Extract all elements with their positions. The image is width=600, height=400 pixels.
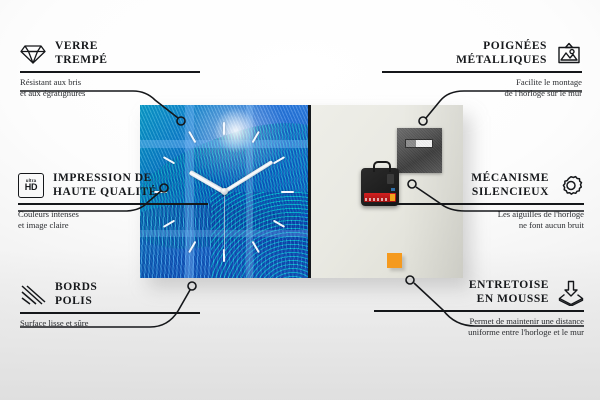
product-infographic: VERRETREMPÉ Résistant aux briset aux égr… — [0, 0, 600, 400]
orange-foam-spacer — [387, 253, 402, 268]
feature-title: VERRETREMPÉ — [55, 40, 108, 67]
arrow-into-pad-icon — [558, 280, 584, 306]
feature-title: MÉCANISMESILENCIEUX — [471, 172, 549, 199]
feature-divider — [20, 71, 200, 73]
feature-description: Les aiguilles de l'horlogene font aucun … — [384, 209, 584, 231]
feature-header: ENTRETOISEEN MOUSSE — [374, 279, 584, 306]
feature-header: POIGNÉESMÉTALLIQUES — [382, 40, 582, 67]
feature-divider — [382, 71, 582, 73]
clock-center-cap — [221, 188, 228, 195]
gear-icon — [558, 173, 584, 199]
feature-title: POIGNÉESMÉTALLIQUES — [456, 40, 547, 67]
mechanism-hook — [373, 161, 391, 172]
feature-description: Permet de maintenir une distanceuniforme… — [374, 316, 584, 338]
feature-mecanisme-silencieux: MÉCANISMESILENCIEUX Les aiguilles de l'h… — [384, 172, 584, 231]
feature-verre-trempe: VERRETREMPÉ Résistant aux briset aux égr… — [20, 40, 200, 99]
diagonal-lines-icon — [20, 282, 46, 308]
feature-divider — [384, 203, 584, 205]
metal-hanger-plate — [397, 128, 442, 173]
feature-description: Résistant aux briset aux égratignures — [20, 77, 200, 99]
feature-header: MÉCANISMESILENCIEUX — [384, 172, 584, 199]
feature-description: Surface lisse et sûre — [20, 318, 200, 329]
clock-tick — [223, 122, 225, 192]
feature-header: ultra HD IMPRESSION DEHAUTE QUALITÉ — [18, 172, 208, 199]
feature-entretoise-en-mousse: ENTRETOISEEN MOUSSE Permet de maintenir … — [374, 279, 584, 338]
feature-header: VERRETREMPÉ — [20, 40, 200, 67]
feature-impression-haute-qualite: ultra HD IMPRESSION DEHAUTE QUALITÉ Coul… — [18, 172, 208, 231]
feature-title: ENTRETOISEEN MOUSSE — [469, 279, 549, 306]
clock-second-hand — [224, 192, 225, 254]
diamond-icon — [20, 41, 46, 67]
feature-bords-polis: BORDSPOLIS Surface lisse et sûre — [20, 281, 200, 329]
feature-title: IMPRESSION DEHAUTE QUALITÉ — [53, 172, 157, 199]
ultra-hd-icon: ultra HD — [18, 173, 44, 199]
feature-poignees-metalliques: POIGNÉESMÉTALLIQUES Facilite le montaged… — [382, 40, 582, 99]
feature-divider — [374, 310, 584, 312]
clock-tick — [224, 191, 294, 193]
hanging-picture-frame-icon — [556, 41, 582, 67]
feature-divider — [18, 203, 208, 205]
feature-description: Facilite le montagede l'horloge sur le m… — [382, 77, 582, 99]
feature-header: BORDSPOLIS — [20, 281, 200, 308]
feature-divider — [20, 312, 200, 314]
feature-title: BORDSPOLIS — [55, 281, 97, 308]
feature-description: Couleurs intenseset image claire — [18, 209, 208, 231]
